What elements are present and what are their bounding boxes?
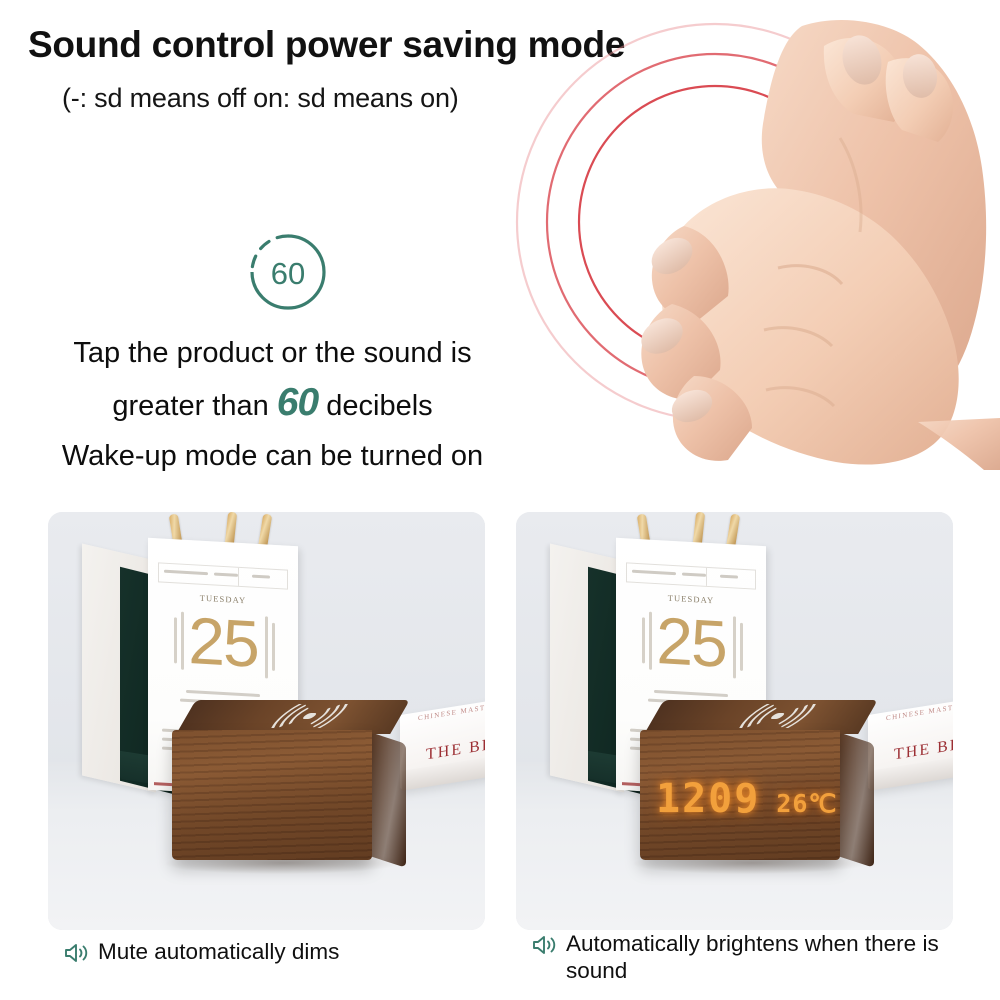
calendar-note-line: [654, 690, 728, 697]
led-temperature: 26℃: [776, 789, 837, 818]
led-display-on: 1209 26℃: [656, 776, 838, 822]
copy-line-2-post: decibels: [318, 390, 432, 422]
clock-top-face: [176, 700, 410, 734]
copy-line-1: Tap the product or the sound is: [0, 328, 545, 378]
calendar-day-number: 25: [148, 600, 298, 684]
copy-line-2: greater than 60 decibels: [0, 378, 545, 431]
copy-line-2-value: 60: [277, 381, 318, 424]
calendar-side-column: [181, 612, 184, 670]
product-scene-bright: TUESDAY 25 CHINESE MASTER: [516, 512, 953, 930]
wireless-charging-icon: [261, 704, 359, 728]
wooden-clock-bright: 1209 26℃: [640, 700, 880, 880]
calendar-side-column: [272, 623, 275, 671]
book-prop: CHINESE MASTER THE BED: [400, 700, 485, 790]
hands-illustration: [588, 18, 1000, 470]
clock-front-face: 1209 26℃: [640, 730, 840, 860]
panel-sound-bright: TUESDAY 25 CHINESE MASTER: [516, 512, 953, 930]
clock-side-face: [370, 732, 406, 868]
caption-sound-bright: Automatically brightens when there is so…: [532, 930, 952, 984]
calendar-side-column: [642, 617, 645, 663]
speaker-mute-icon: [64, 942, 89, 964]
calendar-note-line: [186, 690, 260, 697]
clock-front-face: [172, 730, 372, 860]
badge-value: 60: [271, 256, 305, 291]
decibel-threshold-circle-icon: 60: [246, 230, 330, 314]
caption-text: Automatically brightens when there is so…: [566, 930, 952, 984]
calendar-side-column: [740, 623, 743, 671]
wooden-clock-dim: [172, 700, 412, 880]
caption-mute-dim: Mute automatically dims: [64, 938, 339, 965]
wireless-charging-icon: [729, 704, 827, 728]
calendar-side-column: [265, 616, 268, 678]
calendar-side-column: [733, 616, 736, 678]
copy-line-3: Wake-up mode can be turned on: [0, 431, 545, 481]
product-feature-page: Sound control power saving mode (-: sd m…: [0, 0, 1000, 1000]
clock-top-face: [644, 700, 878, 734]
product-scene-dim: TUESDAY 25 CHINESE MA: [48, 512, 485, 930]
calendar-side-column: [174, 617, 177, 663]
panel-mute-dim: TUESDAY 25 CHINESE MA: [48, 512, 485, 930]
calendar-side-column: [649, 612, 652, 670]
calendar-day-number: 25: [616, 600, 766, 684]
speaker-sound-icon: [532, 934, 557, 956]
clapping-hands-hero: [470, 0, 1000, 470]
led-time: 1209: [656, 776, 760, 822]
copy-line-2-pre: greater than: [112, 390, 276, 422]
feature-description: Tap the product or the sound is greater …: [0, 328, 545, 481]
clock-side-face: [838, 732, 874, 868]
caption-text: Mute automatically dims: [98, 938, 339, 965]
decibel-badge: 60: [246, 230, 330, 314]
book-prop: CHINESE MASTER THE BED: [868, 700, 953, 790]
page-subtitle: (-: sd means off on: sd means on): [62, 83, 459, 114]
